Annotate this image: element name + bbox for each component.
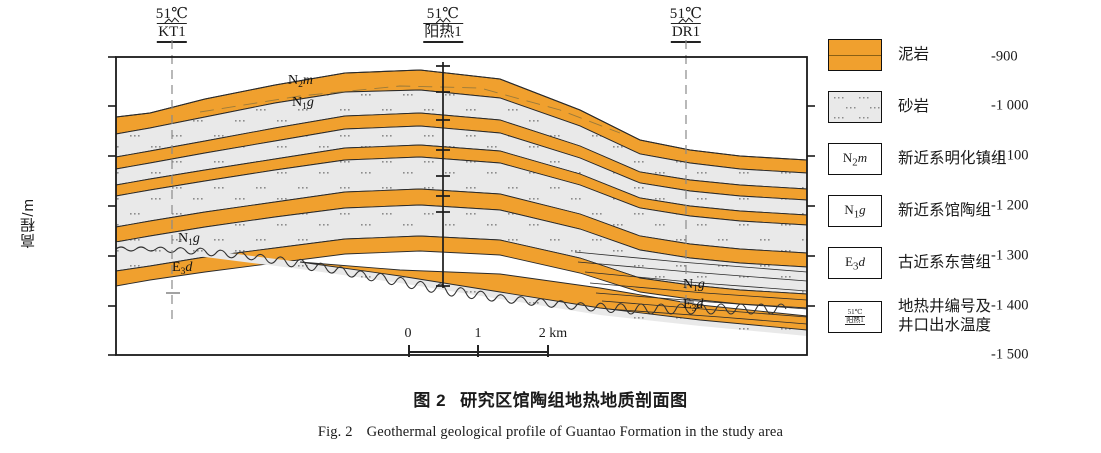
legend-panel: 泥岩 砂岩 N2m 新近 — [828, 38, 1093, 354]
scale-bar-tick — [408, 345, 410, 357]
scale-bar-tick — [547, 345, 549, 357]
figure-caption-en: Fig. 2Geothermal geological profile of G… — [0, 424, 1101, 441]
legend-item-geothermal-well: 51℃ 阳热1 地热井编号及 井口出水温度 — [828, 298, 1093, 336]
legend-label: 泥岩 — [898, 46, 929, 65]
geothermal-well-swatch-icon: 51℃ 阳热1 — [828, 301, 882, 333]
legend-item-e3d: E3d 古近系东营组 — [828, 246, 1093, 280]
legend-label: 古近系东营组 — [898, 254, 991, 273]
formation-code: N2m — [843, 150, 867, 169]
well-mini-name: 阳热1 — [845, 316, 865, 325]
strata-body — [116, 70, 807, 336]
n1g-code-swatch-icon: N1g — [828, 195, 882, 227]
e3d-code-swatch-icon: E3d — [828, 247, 882, 279]
figure-geothermal-profile: 51℃ KT1 51℃ 阳热1 51℃ DR1 -900 -1 000 -1 1… — [0, 0, 1101, 453]
sandstone-swatch-icon — [828, 91, 882, 123]
n2m-code-swatch-icon: N2m — [828, 143, 882, 175]
scale-bar: 0 1 2 km — [408, 326, 556, 357]
scale-tick-label: 2 km — [539, 326, 567, 342]
mudstone-swatch-icon — [828, 39, 882, 71]
formation-label-n2m: N2m — [288, 73, 313, 90]
caption-title-cn: 研究区馆陶组地热地质剖面图 — [460, 391, 688, 410]
legend-label: 砂岩 — [898, 98, 929, 117]
caption-number-cn: 图 2 — [413, 391, 446, 410]
swatch-divider — [829, 55, 881, 56]
formation-code: N1g — [844, 202, 865, 221]
formation-code: E3d — [845, 254, 865, 273]
caption-number-en: Fig. 2 — [318, 424, 353, 440]
scale-tick-label: 0 — [405, 326, 412, 342]
legend-item-n2m: N2m 新近系明化镇组 — [828, 142, 1093, 176]
legend-item-n1g: N1g 新近系馆陶组 — [828, 194, 1093, 228]
well-mini-temperature: 51℃ — [845, 309, 865, 316]
well-symbol-mini: 51℃ 阳热1 — [845, 309, 865, 326]
scale-tick-label: 1 — [475, 326, 482, 342]
caption-title-en: Geothermal geological profile of Guantao… — [367, 424, 783, 440]
figure-caption-cn: 图 2研究区馆陶组地热地质剖面图 — [0, 386, 1101, 411]
legend-label: 新近系馆陶组 — [898, 202, 991, 221]
scale-bar-tick — [477, 345, 479, 357]
legend-label: 地热井编号及 井口出水温度 — [898, 298, 991, 336]
legend-item-sandstone: 砂岩 — [828, 90, 1093, 124]
legend-label: 新近系明化镇组 — [898, 150, 1007, 169]
legend-item-mudstone: 泥岩 — [828, 38, 1093, 72]
